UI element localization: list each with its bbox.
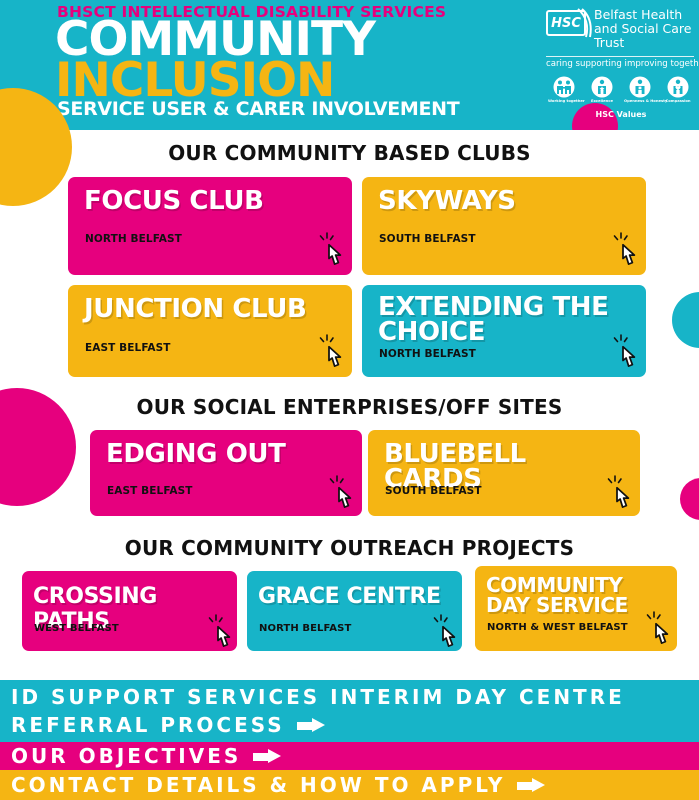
footer-bar-text: ID SUPPORT SERVICES INTERIM DAY CENTRE — [11, 683, 625, 711]
arrow-right-icon — [517, 778, 547, 792]
card-junction-club[interactable]: JUNCTION CLUB EAST BELFAST — [68, 285, 352, 377]
section-heading-social-enterprises: OUR SOCIAL ENTERPRISES/OFF SITES — [0, 395, 699, 419]
person-star-icon — [591, 76, 613, 98]
hsc-value-label: Compassion — [662, 99, 694, 104]
card-title: FOCUS CLUB — [84, 189, 340, 214]
hsc-value-label: Working together — [548, 99, 580, 104]
hsc-values-row: Working together Excellence — [548, 76, 694, 108]
footer-bar-text: OUR OBJECTIVES — [11, 744, 241, 768]
card-area: EAST BELFAST — [85, 342, 171, 354]
poster-root: BHSCT INTELLECTUAL DISABILITY SERVICES C… — [0, 0, 699, 800]
card-title: GRACE CENTRE — [258, 584, 450, 609]
card-title: JUNCTION CLUB — [84, 297, 340, 322]
card-grace-centre[interactable]: GRACE CENTRE NORTH BELFAST — [247, 571, 462, 651]
hsc-value-openness-honesty: Openness & Honesty — [624, 76, 656, 108]
card-area: SOUTH BELFAST — [379, 233, 476, 245]
card-skyways[interactable]: SKYWAYS SOUTH BELFAST — [362, 177, 646, 275]
card-area: NORTH BELFAST — [379, 348, 476, 360]
card-edging-out[interactable]: EDGING OUT EAST BELFAST — [90, 430, 362, 516]
hsc-value-label: Openness & Honesty — [624, 99, 656, 104]
hsc-swoosh-icon — [576, 8, 592, 38]
click-cursor-icon — [328, 474, 358, 508]
hsc-values-caption: HSC Values — [548, 110, 694, 119]
card-area: NORTH & WEST BELFAST — [487, 622, 628, 633]
section-heading-clubs: OUR COMMUNITY BASED CLUBS — [0, 141, 699, 165]
click-cursor-icon — [612, 231, 642, 265]
card-title: SKYWAYS — [378, 189, 634, 214]
person-open-icon — [629, 76, 651, 98]
card-area: EAST BELFAST — [107, 485, 193, 497]
hsc-logo: HSC Belfast Health and Social Care Trust — [546, 8, 692, 54]
footer-bar-line-2: REFERRAL PROCESS — [0, 711, 327, 739]
card-extending-the-choice[interactable]: EXTENDING THE CHOICE NORTH BELFAST — [362, 285, 646, 377]
arrow-right-icon — [297, 718, 327, 732]
card-area: WEST BELFAST — [34, 623, 119, 634]
footer-bar-id-support-services[interactable]: ID SUPPORT SERVICES INTERIM DAY CENTRE R… — [0, 680, 699, 742]
decorative-circle-pink-right — [680, 478, 699, 520]
header-title-inclusion: INCLUSION — [55, 57, 334, 104]
card-area: NORTH BELFAST — [85, 233, 182, 245]
click-cursor-icon — [645, 610, 675, 644]
hsc-value-working-together: Working together — [548, 76, 580, 108]
hsc-value-compassion: Compassion — [662, 76, 694, 108]
click-cursor-icon — [318, 231, 348, 265]
footer-bar-line-1: ID SUPPORT SERVICES INTERIM DAY CENTRE — [0, 683, 625, 711]
card-area: SOUTH BELFAST — [385, 485, 482, 497]
header-subtitle: SERVICE USER & CARER INVOLVEMENT — [57, 100, 459, 119]
click-cursor-icon — [318, 333, 348, 367]
footer-bar-text: CONTACT DETAILS & HOW TO APPLY — [11, 773, 505, 797]
footer-bar-text: REFERRAL PROCESS — [11, 711, 285, 739]
hsc-strapline: caring supporting improving together — [546, 56, 694, 69]
person-heart-icon — [667, 76, 689, 98]
arrow-right-icon — [253, 749, 283, 763]
card-focus-club[interactable]: FOCUS CLUB NORTH BELFAST — [68, 177, 352, 275]
decorative-circle-teal-right — [672, 292, 699, 348]
card-title: EXTENDING THE CHOICE — [378, 295, 634, 345]
two-people-icon — [553, 76, 575, 98]
card-title: EDGING OUT — [106, 442, 350, 467]
card-title: COMMUNITY DAY SERVICE — [486, 575, 665, 615]
footer-bar-contact-details[interactable]: CONTACT DETAILS & HOW TO APPLY — [0, 770, 699, 800]
card-crossing-paths[interactable]: CROSSING PATHS WEST BELFAST — [22, 571, 237, 651]
card-bluebell-cards[interactable]: BLUEBELL CARDS SOUTH BELFAST — [368, 430, 640, 516]
click-cursor-icon — [432, 613, 462, 647]
card-area: NORTH BELFAST — [259, 623, 351, 634]
hsc-org-name: Belfast Health and Social Care Trust — [594, 8, 694, 50]
section-heading-outreach: OUR COMMUNITY OUTREACH PROJECTS — [0, 536, 699, 560]
footer-bar-our-objectives[interactable]: OUR OBJECTIVES — [0, 742, 699, 770]
card-community-day-service[interactable]: COMMUNITY DAY SERVICE NORTH & WEST BELFA… — [475, 566, 677, 651]
